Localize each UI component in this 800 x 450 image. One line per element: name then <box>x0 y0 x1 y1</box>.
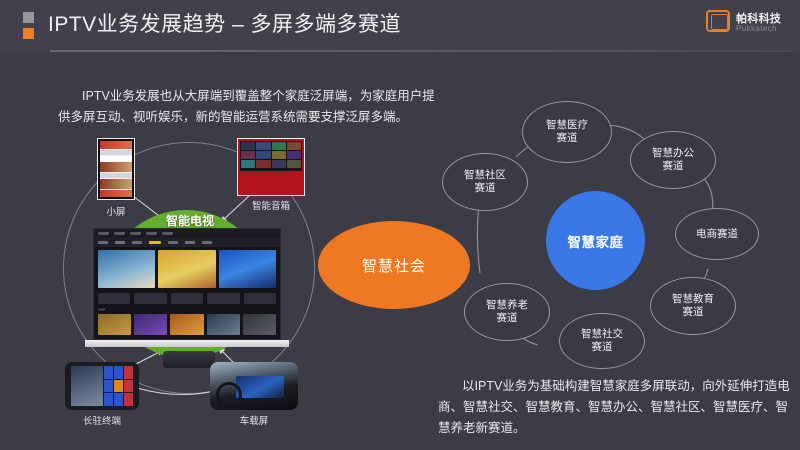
track-node-office-line2: 赛道 <box>652 160 694 173</box>
track-node-education-line1: 智慧教育 <box>672 293 714 306</box>
track-node-elderly: 智慧养老 赛道 <box>464 283 550 341</box>
tv-section-subtitle: VIP <box>94 306 280 313</box>
track-node-ecommerce-line1: 电商赛道 <box>696 228 738 241</box>
track-node-education-line2: 赛道 <box>672 306 714 319</box>
track-node-community: 智慧社区 赛道 <box>442 153 528 211</box>
smart-home-center-label: 智慧家庭 <box>568 231 624 251</box>
track-node-office-line1: 智慧办公 <box>652 147 694 160</box>
tv-stand <box>85 340 289 347</box>
smart-society-label: 智慧社会 <box>362 255 426 276</box>
speaker-screen <box>240 141 302 171</box>
resident-terminal-tablet <box>65 362 139 410</box>
tv-top-bar <box>94 229 280 238</box>
tv-nav-bar <box>94 238 280 247</box>
track-node-social-line1: 智慧社交 <box>581 328 623 341</box>
track-node-ecommerce: 电商赛道 <box>675 208 759 260</box>
track-node-social: 智慧社交 赛道 <box>559 313 645 369</box>
device-label-smart-speaker: 智能音箱 <box>239 198 303 212</box>
phone-screen <box>100 141 132 197</box>
title-divider <box>50 50 790 52</box>
title-bullet-marker <box>23 12 34 42</box>
track-node-office: 智慧办公 赛道 <box>630 131 716 189</box>
tablet-screen <box>71 366 133 406</box>
smart-home-track-diagram: 智慧医疗 赛道 智慧办公 赛道 电商赛道 智慧教育 赛道 智慧社交 赛道 <box>420 95 800 385</box>
track-node-elderly-line1: 智慧养老 <box>486 299 528 312</box>
tv-category-chips <box>94 291 280 306</box>
logo-name-en: Pukkatech <box>736 24 777 33</box>
track-node-community-line2: 赛道 <box>464 182 506 195</box>
intro-paragraph: IPTV业务发展也从大屏端到覆盖整个家庭泛屏端，为家庭用户提供多屏互动、视听娱乐… <box>58 86 438 128</box>
logo-frame-icon <box>706 10 730 32</box>
smart-home-center-node: 智慧家庭 <box>546 191 645 290</box>
car-dashboard-display <box>236 376 284 398</box>
device-label-resident-terminal: 长驻终端 <box>63 413 141 427</box>
track-node-medical-line1: 智慧医疗 <box>546 119 588 132</box>
device-label-car-screen: 车载屏 <box>213 413 295 427</box>
bullet-square-orange <box>23 28 34 39</box>
track-node-medical-line2: 赛道 <box>546 132 588 145</box>
bullet-square-light <box>23 12 34 23</box>
smart-tv-device: VIP <box>93 228 281 340</box>
small-screen-phone <box>97 138 135 200</box>
multi-screen-device-cluster: 智能电视 VIP <box>55 130 355 430</box>
smart-tv-hub-label: 智能电视 <box>130 212 250 229</box>
device-label-small-screen: 小屏 <box>89 204 143 218</box>
track-node-education: 智慧教育 赛道 <box>650 277 736 335</box>
steering-wheel <box>216 382 242 408</box>
conclusion-paragraph: 以IPTV业务为基础构建智慧家庭多屏联动，向外延伸打造电商、智慧社交、智慧教育、… <box>438 376 790 439</box>
track-node-elderly-line2: 赛道 <box>486 312 528 325</box>
speaker-body <box>240 171 302 196</box>
smart-speaker-device <box>237 138 305 196</box>
car-screen-device <box>210 362 298 410</box>
page-title: IPTV业务发展趋势 – 多屏多端多赛道 <box>48 11 401 39</box>
tv-hero-banners <box>94 247 280 291</box>
track-node-community-line1: 智慧社区 <box>464 169 506 182</box>
brand-logo: 帕科科技 Pukkatech <box>706 6 792 40</box>
tv-content-row <box>94 313 280 338</box>
track-node-social-line2: 赛道 <box>581 341 623 354</box>
set-top-box <box>163 351 215 368</box>
slide-header: IPTV业务发展趋势 – 多屏多端多赛道 帕科科技 Pukkatech <box>0 0 800 52</box>
track-node-medical: 智慧医疗 赛道 <box>522 101 612 163</box>
slide-canvas: IPTV业务发展趋势 – 多屏多端多赛道 帕科科技 Pukkatech IPTV… <box>0 0 800 450</box>
